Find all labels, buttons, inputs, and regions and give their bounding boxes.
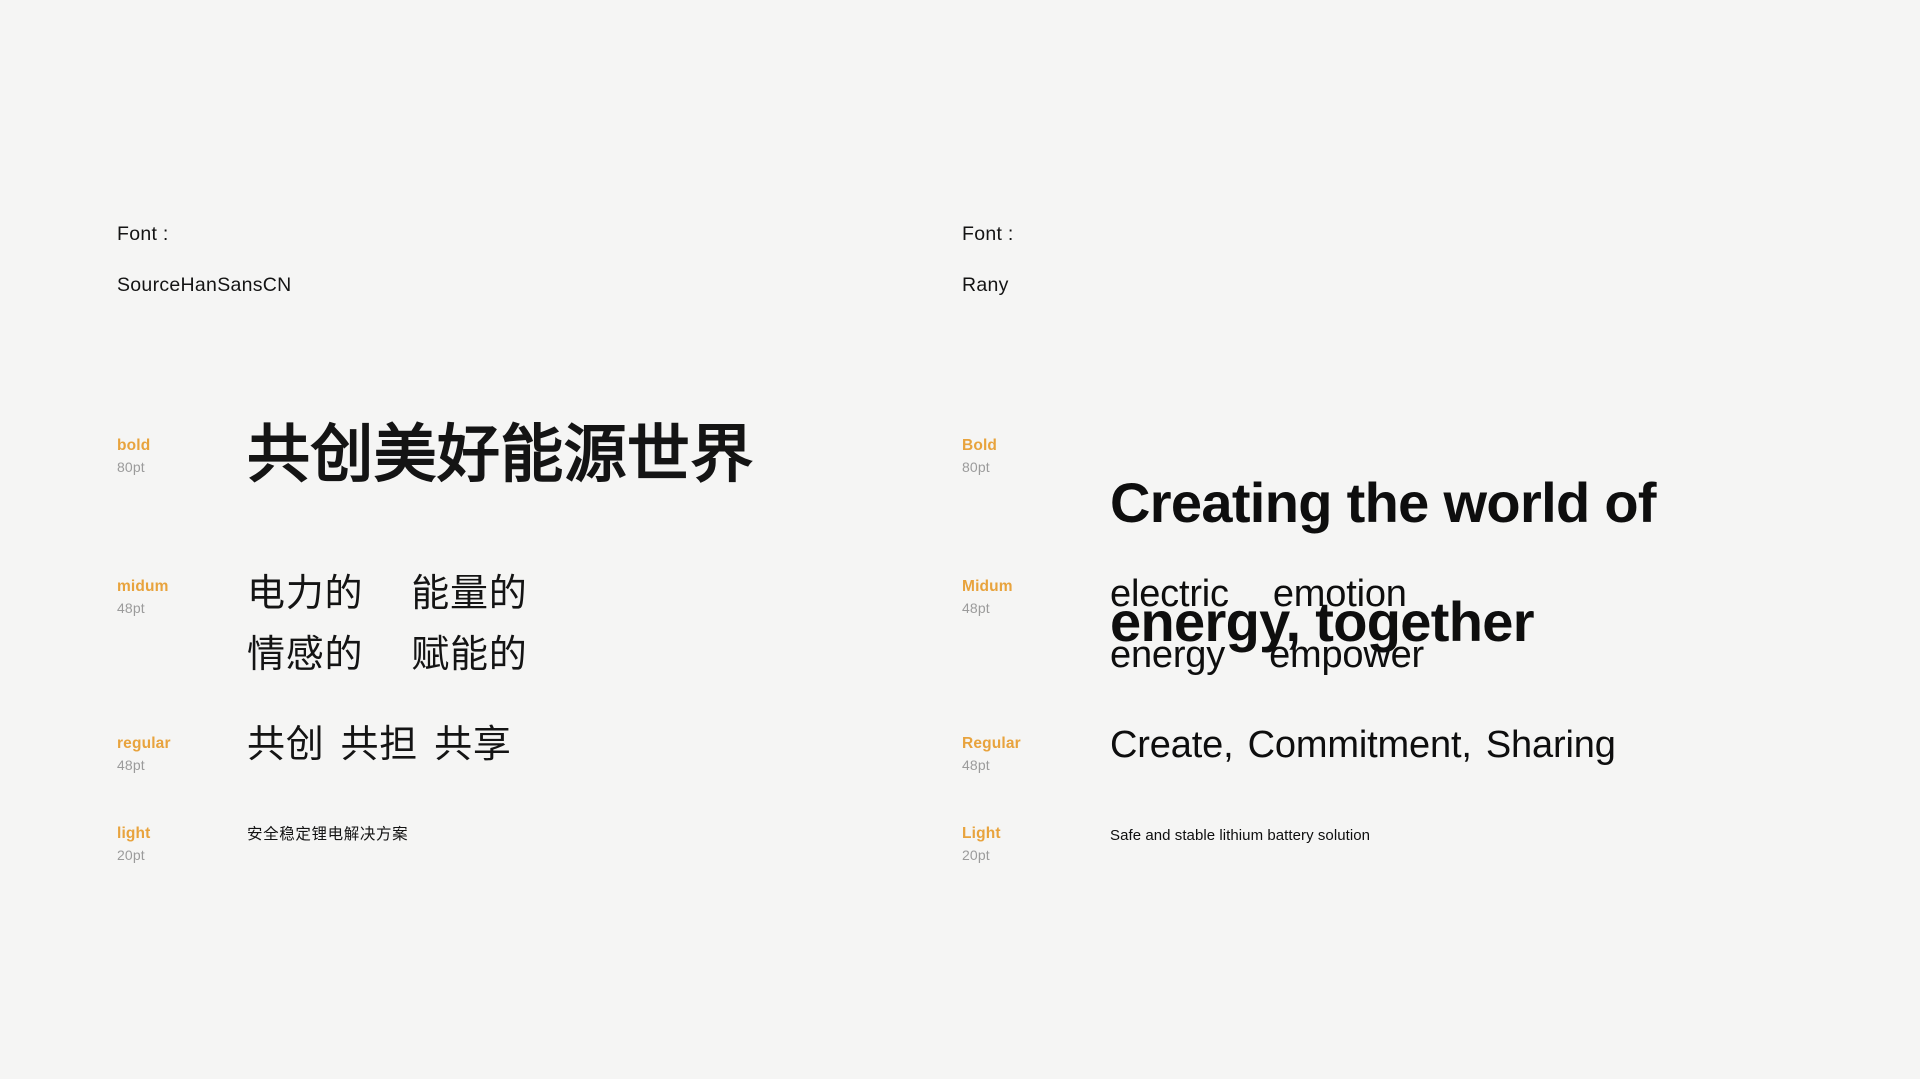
font-header-label: Font :: [962, 222, 1862, 248]
specimen-text-cjk-midum: 电力的能量的 情感的赋能的: [247, 564, 528, 687]
weight-label-group-bold: Bold 80pt: [962, 437, 1072, 475]
weight-name-bold: Bold: [962, 437, 1072, 454]
font-header-rany: Font : Rany: [962, 196, 1862, 325]
weight-size-midum: 48pt: [962, 601, 1072, 616]
specimen-word: 共担: [341, 724, 419, 766]
font-header-name: Rany: [962, 273, 1862, 299]
weight-size-light: 20pt: [117, 848, 227, 863]
weight-size-bold: 80pt: [962, 460, 1072, 475]
specimen-text-cjk-light: 安全稳定锂电解决方案: [247, 826, 408, 845]
specimen-word: empower: [1269, 634, 1424, 676]
specimen-column-rany: Font : Rany Bold 80pt Creating the world…: [962, 196, 1862, 325]
specimen-line: 情感的赋能的: [247, 625, 528, 687]
specimen-word: 电力的: [247, 573, 363, 615]
typography-specimen-sheet: Font : SourceHanSansCN bold 80pt 共创美好能源世…: [0, 0, 1920, 1079]
specimen-word: 赋能的: [411, 634, 527, 676]
specimen-regular: 共创共担共享: [247, 735, 512, 769]
font-header-name: SourceHanSansCN: [117, 273, 957, 299]
specimen-line: energyempower: [1110, 625, 1424, 687]
weight-name-light: Light: [962, 825, 1072, 842]
weight-size-light: 20pt: [962, 848, 1072, 863]
specimen-line: Creating the world of: [1110, 473, 1656, 533]
specimen-word: 能量的: [411, 573, 527, 615]
specimen-word: energy: [1110, 634, 1225, 676]
weight-size-regular: 48pt: [117, 758, 227, 773]
specimen-word: Create,: [1110, 724, 1234, 766]
weight-label-group-midum: Midum 48pt: [962, 578, 1072, 616]
weight-size-regular: 48pt: [962, 758, 1072, 773]
weight-name-midum: Midum: [962, 578, 1072, 595]
specimen-midum: electricemotion energyempower: [1110, 578, 1424, 687]
specimen-light: Safe and stable lithium battery solution: [1110, 825, 1370, 845]
weight-size-midum: 48pt: [117, 601, 227, 616]
specimen-midum: 电力的能量的 情感的赋能的: [247, 578, 528, 687]
specimen-word: Commitment,: [1248, 724, 1472, 766]
weight-name-regular: Regular: [962, 735, 1072, 752]
weight-size-bold: 80pt: [117, 460, 227, 475]
specimen-bold: 共创美好能源世界: [247, 437, 754, 492]
weight-name-midum: midum: [117, 578, 227, 595]
weight-name-regular: regular: [117, 735, 227, 752]
specimen-line: electricemotion: [1110, 564, 1424, 626]
specimen-line: 电力的能量的: [247, 564, 528, 626]
font-header-sourcehansanscn: Font : SourceHanSansCN: [117, 196, 957, 325]
weight-name-bold: bold: [117, 437, 227, 454]
weight-label-group-regular: regular 48pt: [117, 735, 227, 773]
weight-label-group-light: Light 20pt: [962, 825, 1072, 863]
specimen-word: 情感的: [247, 634, 363, 676]
weight-label-group-bold: bold 80pt: [117, 437, 227, 475]
specimen-text-cjk-regular: 共创共担共享: [247, 723, 512, 769]
weight-name-light: light: [117, 825, 227, 842]
specimen-word: emotion: [1273, 573, 1407, 615]
specimen-word: 共享: [434, 724, 512, 766]
specimen-regular: Create,Commitment,Sharing: [1110, 735, 1616, 769]
specimen-light: 安全稳定锂电解决方案: [247, 825, 408, 845]
font-header-label: Font :: [117, 222, 957, 248]
weight-label-group-light: light 20pt: [117, 825, 227, 863]
specimen-text-latin-light: Safe and stable lithium battery solution: [1110, 827, 1370, 845]
specimen-text-latin-regular: Create,Commitment,Sharing: [1110, 723, 1616, 769]
specimen-word: 共创: [247, 724, 325, 766]
specimen-column-sourcehansanscn: Font : SourceHanSansCN bold 80pt 共创美好能源世…: [117, 196, 957, 325]
specimen-text-cjk-bold: 共创美好能源世界: [247, 419, 754, 492]
specimen-word: electric: [1110, 573, 1229, 615]
weight-label-group-regular: Regular 48pt: [962, 735, 1072, 773]
specimen-word: Sharing: [1486, 724, 1616, 766]
weight-label-group-midum: midum 48pt: [117, 578, 227, 616]
specimen-text-latin-midum: electricemotion energyempower: [1110, 564, 1424, 687]
